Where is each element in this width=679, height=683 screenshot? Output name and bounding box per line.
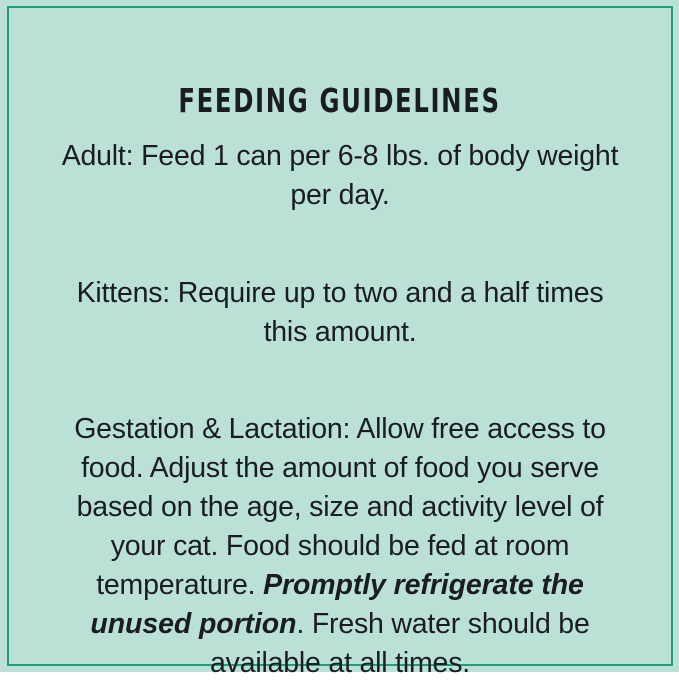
card-title: FEEDING GUIDELINES	[179, 84, 501, 117]
kittens-text: Require up to two and a half times this …	[170, 277, 603, 348]
kittens-label: Kittens:	[77, 277, 170, 309]
gestation-label: Gestation & Lactation:	[74, 413, 350, 445]
card-border-right	[671, 6, 673, 666]
card-content: FEEDING GUIDELINES Adult: Feed 1 can per…	[9, 8, 671, 664]
feeding-guidelines-card: FEEDING GUIDELINES Adult: Feed 1 can per…	[0, 0, 679, 672]
adult-label: Adult:	[62, 140, 134, 172]
gestation-lactation-paragraph: Gestation & Lactation: Allow free access…	[68, 410, 613, 683]
adult-feeding-paragraph: Adult: Feed 1 can per 6-8 lbs. of body w…	[60, 137, 620, 215]
kittens-feeding-paragraph: Kittens: Require up to two and a half ti…	[60, 274, 620, 352]
adult-text: Feed 1 can per 6-8 lbs. of body weight p…	[133, 140, 618, 211]
